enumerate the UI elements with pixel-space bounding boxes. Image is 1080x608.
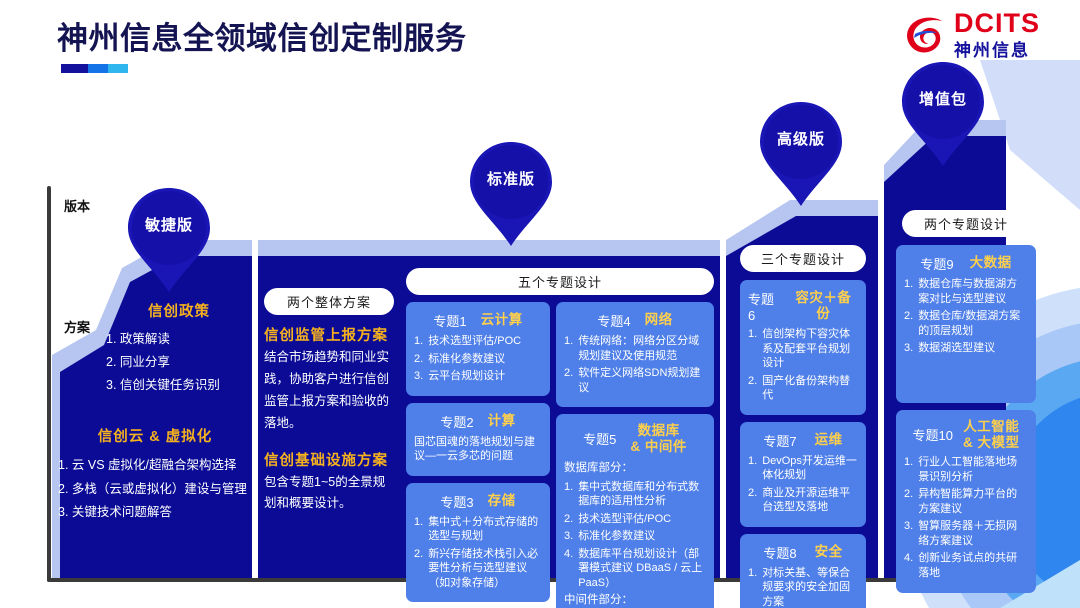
list-item: 2.技术选型评估/POC <box>564 512 706 527</box>
topic-card-9[interactable]: 专题9 大数据 1.数据仓库与数据湖方案对比与选型建议 2.数据仓库/数据湖方案… <box>896 245 1036 403</box>
list-item: 3. 关键技术问题解答 <box>58 501 252 524</box>
item-number: 3. <box>414 369 423 384</box>
map-pin-icon <box>468 140 554 248</box>
list-item: 2.异构智能算力平台的方案建议 <box>904 487 1028 516</box>
block-body: 结合市场趋势和同业实践，协助客户进行信创监管上报方案和验收的落地。 <box>264 347 394 435</box>
item-number: 3. <box>564 529 573 544</box>
map-pin-icon <box>758 100 844 208</box>
overall-plans-pill[interactable]: 两个整体方案 <box>264 288 394 315</box>
item-number: 1. <box>748 454 757 483</box>
agile-section-policy: 信创政策 1. 政策解读 2. 同业分享 3. 信创关键任务识别 <box>58 300 252 397</box>
topic-card-7[interactable]: 专题7 运维 1.DevOps开发运维一体化规划 2.商业及开源运维平台选型及落… <box>740 422 866 527</box>
item-number: 3. <box>904 519 913 548</box>
item-number: 2. <box>748 486 757 515</box>
card-header: 专题7 运维 <box>748 429 858 454</box>
topic-tag: 人工智能 & 大模型 <box>963 419 1020 451</box>
three-topics-pill[interactable]: 三个专题设计 <box>740 245 866 272</box>
topic-number: 专题6 <box>748 289 781 323</box>
list-item: 1.传统网络：网络分区分域规划建议及使用规范 <box>564 334 706 363</box>
list-item: 1.集中式＋分布式存储的选型与规划 <box>414 515 542 544</box>
topic-card-1[interactable]: 专题1 云计算 1.技术选型评估/POC 2.标准化参数建议 3.云平台规划设计 <box>406 302 550 396</box>
item-text: 信创架构下容灾体系及配套平台规划设计 <box>762 327 858 371</box>
list-item: 1.信创架构下容灾体系及配套平台规划设计 <box>748 327 858 371</box>
item-number: 1. <box>904 455 913 484</box>
item-number: 2. <box>904 487 913 516</box>
section-title: 信创云 & 虚拟化 <box>58 425 252 446</box>
topic-number: 专题4 <box>597 311 630 330</box>
item-number: 1. <box>904 277 913 306</box>
agile-section-cloud: 信创云 & 虚拟化 1. 云 VS 虚拟化/超融合架构选择 2. 多栈（云或虚拟… <box>58 425 252 523</box>
overall-block: 信创监管上报方案 结合市场趋势和同业实践，协助客户进行信创监管上报方案和验收的落… <box>264 324 394 435</box>
card-header: 专题9 大数据 <box>904 252 1028 277</box>
item-number: 1. <box>414 515 423 544</box>
topic-tag: 运维 <box>815 432 843 448</box>
list-item: 2. 同业分享 <box>106 351 252 374</box>
axis-vertical <box>47 186 51 582</box>
card-header: 专题3 存储 <box>414 490 542 515</box>
list-item: 3. 信创关键任务识别 <box>106 374 252 397</box>
section-title: 信创政策 <box>106 300 252 321</box>
item-text: 数据仓库/数据湖方案的顶层规划 <box>918 309 1028 338</box>
item-text: 标准化参数建议 <box>428 352 505 367</box>
list-item: 2.软件定义网络SDN规划建议 <box>564 366 706 395</box>
item-text: 技术选型评估/POC <box>428 334 521 349</box>
topic-number: 专题10 <box>913 425 953 444</box>
topic-list: 1.数据仓库与数据湖方案对比与选型建议 2.数据仓库/数据湖方案的顶层规划 3.… <box>904 277 1028 356</box>
list-item: 2.标准化参数建议 <box>414 352 542 367</box>
topic-subheading: 数据库部分： <box>564 461 706 476</box>
item-number: 2. <box>564 512 573 527</box>
item-number: 3. <box>904 341 913 356</box>
topic-tag: 容灾＋备份 <box>789 290 858 322</box>
list-item: 1.行业人工智能落地场景识别分析 <box>904 455 1028 484</box>
list-item: 2.数据仓库/数据湖方案的顶层规划 <box>904 309 1028 338</box>
block-title: 信创基础设施方案 <box>264 449 394 470</box>
column-agile: 信创政策 1. 政策解读 2. 同业分享 3. 信创关键任务识别 信创云 & 虚… <box>58 300 252 570</box>
pin-label: 高级版 <box>758 128 844 149</box>
list-item: 2.商业及开源运维平台选型及落地 <box>748 486 858 515</box>
list-item: 3.云平台规划设计 <box>414 369 542 384</box>
pin-label: 标准版 <box>468 168 554 189</box>
item-text: 集中式＋分布式存储的选型与规划 <box>428 515 542 544</box>
topic-number: 专题9 <box>920 254 953 273</box>
topic-number: 专题8 <box>763 543 796 562</box>
topic-card-3[interactable]: 专题3 存储 1.集中式＋分布式存储的选型与规划 2.新兴存储技术栈引入必要性分… <box>406 483 550 603</box>
list-item: 1.集中式数据库和分布式数据库的适用性分析 <box>564 480 706 509</box>
topic-tag: 计算 <box>488 413 516 429</box>
item-text: 数据仓库与数据湖方案对比与选型建议 <box>918 277 1028 306</box>
column-three-topics: 三个专题设计 专题6 容灾＋备份 1.信创架构下容灾体系及配套平台规划设计 2.… <box>740 245 866 608</box>
list-item: 1.DevOps开发运维一体化规划 <box>748 454 858 483</box>
topic-card-8[interactable]: 专题8 安全 1.对标关基、等保合规要求的安全加固方案 2.云原生基础架构一体化… <box>740 534 866 608</box>
list-item: 1. 政策解读 <box>106 328 252 351</box>
list-item: 1. 云 VS 虚拟化/超融合架构选择 <box>58 454 252 477</box>
item-text: 云平台规划设计 <box>428 369 505 384</box>
list-item: 3.智算服务器＋无损网络方案建议 <box>904 519 1028 548</box>
column-two-topics: 两个专题设计 专题9 大数据 1.数据仓库与数据湖方案对比与选型建议 2.数据仓… <box>896 210 1036 600</box>
topic-tag: 安全 <box>815 544 843 560</box>
list-item: 3.标准化参数建议 <box>564 529 706 544</box>
dcits-swirl-logo-icon <box>902 12 950 60</box>
card-header: 专题5 数据库 & 中间件 <box>564 421 706 459</box>
list-item: 2.新兴存储技术栈引入必要性分析与选型建议（如对象存储） <box>414 547 542 591</box>
item-number: 4. <box>564 547 573 591</box>
topic-number: 专题7 <box>763 431 796 450</box>
block-body: 包含专题1~5的全景规划和概要设计。 <box>264 472 394 516</box>
topic-card-4[interactable]: 专题4 网络 1.传统网络：网络分区分域规划建议及使用规范 2.软件定义网络SD… <box>556 302 714 407</box>
topic-list: 1.传统网络：网络分区分域规划建议及使用规范 2.软件定义网络SDN规划建议 <box>564 334 706 395</box>
column-five-topics-right: 专题4 网络 1.传统网络：网络分区分域规划建议及使用规范 2.软件定义网络SD… <box>556 302 714 608</box>
topic-number: 专题5 <box>583 429 616 448</box>
topic-list: 1.行业人工智能落地场景识别分析 2.异构智能算力平台的方案建议 3.智算服务器… <box>904 455 1028 580</box>
item-text: 技术选型评估/POC <box>578 512 671 527</box>
item-number: 2. <box>904 309 913 338</box>
item-text: 数据湖选型建议 <box>918 341 995 356</box>
item-text: 对标关基、等保合规要求的安全加固方案 <box>762 566 858 608</box>
item-number: 2. <box>748 374 757 403</box>
topic-list: 1.对标关基、等保合规要求的安全加固方案 2.云原生基础架构一体化安全防护建设方… <box>748 566 858 608</box>
item-number: 4. <box>904 551 913 580</box>
pin-standard[interactable]: 标准版 <box>468 140 554 248</box>
item-text: 国产化备份架构替代 <box>762 374 858 403</box>
topic-tag: 存储 <box>488 493 516 509</box>
item-text: 传统网络：网络分区分域规划建议及使用规范 <box>578 334 706 363</box>
item-text: 集中式数据库和分布式数据库的适用性分析 <box>578 480 706 509</box>
list-item: 1.对标关基、等保合规要求的安全加固方案 <box>748 566 858 608</box>
topic-list: 1.集中式＋分布式存储的选型与规划 2.新兴存储技术栈引入必要性分析与选型建议（… <box>414 515 542 591</box>
title-underline-rule <box>61 64 128 73</box>
item-text: 行业人工智能落地场景识别分析 <box>918 455 1028 484</box>
topic-list: 1.信创架构下容灾体系及配套平台规划设计 2.国产化备份架构替代 <box>748 327 858 403</box>
topic-tag: 数据库 & 中间件 <box>630 423 687 455</box>
topic-list: 1.DevOps开发运维一体化规划 2.商业及开源运维平台选型及落地 <box>748 454 858 515</box>
item-number: 1. <box>748 327 757 371</box>
topic-number: 专题1 <box>433 311 466 330</box>
topic-card-2[interactable]: 专题2 计算 国芯国魂的落地规划与建议—一云多芯的问题 <box>406 403 550 476</box>
topic-card-5[interactable]: 专题5 数据库 & 中间件 数据库部分： 1.集中式数据库和分布式数据库的适用性… <box>556 414 714 608</box>
item-text: 异构智能算力平台的方案建议 <box>918 487 1028 516</box>
topic-list: 1.集中式数据库和分布式数据库的适用性分析 2.技术选型评估/POC 3.标准化… <box>564 480 706 591</box>
list-item: 2. 多栈（云或虚拟化）建设与管理 <box>58 478 252 501</box>
item-number: 1. <box>748 566 757 608</box>
list-item: 4.创新业务试点的共研落地 <box>904 551 1028 580</box>
pin-valueadd[interactable]: 增值包 <box>900 60 986 168</box>
list-item: 4.数据库平台规划设计（部署模式建议 DBaaS / 云上PaaS） <box>564 547 706 591</box>
item-text: 数据库平台规划设计（部署模式建议 DBaaS / 云上PaaS） <box>578 547 706 591</box>
pin-label: 增值包 <box>900 88 986 109</box>
topic-tag: 网络 <box>645 312 673 328</box>
topic-card-10[interactable]: 专题10 人工智能 & 大模型 1.行业人工智能落地场景识别分析 2.异构智能算… <box>896 410 1036 593</box>
pin-label: 敏捷版 <box>126 214 212 235</box>
list-item: 3.数据湖选型建议 <box>904 341 1028 356</box>
topic-card-6[interactable]: 专题6 容灾＋备份 1.信创架构下容灾体系及配套平台规划设计 2.国产化备份架构… <box>740 280 866 415</box>
item-number: 1. <box>414 334 423 349</box>
five-topics-pill[interactable]: 五个专题设计 <box>406 268 714 295</box>
topic-number: 专题2 <box>440 412 473 431</box>
map-pin-icon <box>126 186 212 294</box>
card-header: 专题6 容灾＋备份 <box>748 287 858 327</box>
item-text: 创新业务试点的共研落地 <box>918 551 1028 580</box>
topic-subheading: 中间件部分： <box>564 593 706 608</box>
pin-agile[interactable]: 敏捷版 <box>126 186 212 294</box>
axis-label-version: 版本 <box>64 196 90 215</box>
block-title: 信创监管上报方案 <box>264 324 394 345</box>
logo-text-cn: 神州信息 <box>954 40 1040 61</box>
card-header: 专题2 计算 <box>414 410 542 435</box>
item-text: 标准化参数建议 <box>578 529 655 544</box>
topic-tag: 云计算 <box>481 312 523 328</box>
item-number: 2. <box>414 352 423 367</box>
page-title: 神州信息全领域信创定制服务 <box>57 13 467 58</box>
list-item: 2.国产化备份架构替代 <box>748 374 858 403</box>
logo-text-en: DCITS <box>954 10 1040 37</box>
item-number: 2. <box>414 547 423 591</box>
item-text: DevOps开发运维一体化规划 <box>762 454 858 483</box>
slide-canvas: 神州信息全领域信创定制服务 DCITS 神州信息 版本 方案 敏捷版 <box>0 0 1080 608</box>
card-header: 专题1 云计算 <box>414 309 542 334</box>
item-text: 商业及开源运维平台选型及落地 <box>762 486 858 515</box>
item-number: 2. <box>564 366 573 395</box>
item-number: 1. <box>564 334 573 363</box>
map-pin-icon <box>900 60 986 168</box>
card-header: 专题4 网络 <box>564 309 706 334</box>
item-number: 1. <box>564 480 573 509</box>
topic-paragraph: 国芯国魂的落地规划与建议—一云多芯的问题 <box>414 435 542 464</box>
item-text: 软件定义网络SDN规划建议 <box>578 366 706 395</box>
card-header: 专题8 安全 <box>748 541 858 566</box>
card-header: 专题10 人工智能 & 大模型 <box>904 417 1028 455</box>
topic-tag: 大数据 <box>970 255 1012 271</box>
topic-list: 1.技术选型评估/POC 2.标准化参数建议 3.云平台规划设计 <box>414 334 542 384</box>
item-text: 新兴存储技术栈引入必要性分析与选型建议（如对象存储） <box>428 547 542 591</box>
topic-number: 专题3 <box>440 492 473 511</box>
overall-block: 信创基础设施方案 包含专题1~5的全景规划和概要设计。 <box>264 449 394 516</box>
item-text: 智算服务器＋无损网络方案建议 <box>918 519 1028 548</box>
list-item: 1.数据仓库与数据湖方案对比与选型建议 <box>904 277 1028 306</box>
column-five-topics-left: 专题1 云计算 1.技术选型评估/POC 2.标准化参数建议 3.云平台规划设计… <box>406 302 550 608</box>
column-overall-plans: 两个整体方案 信创监管上报方案 结合市场趋势和同业实践，协助客户进行信创监管上报… <box>264 288 394 515</box>
two-topics-pill[interactable]: 两个专题设计 <box>902 210 1030 237</box>
pin-advanced[interactable]: 高级版 <box>758 100 844 208</box>
list-item: 1.技术选型评估/POC <box>414 334 542 349</box>
